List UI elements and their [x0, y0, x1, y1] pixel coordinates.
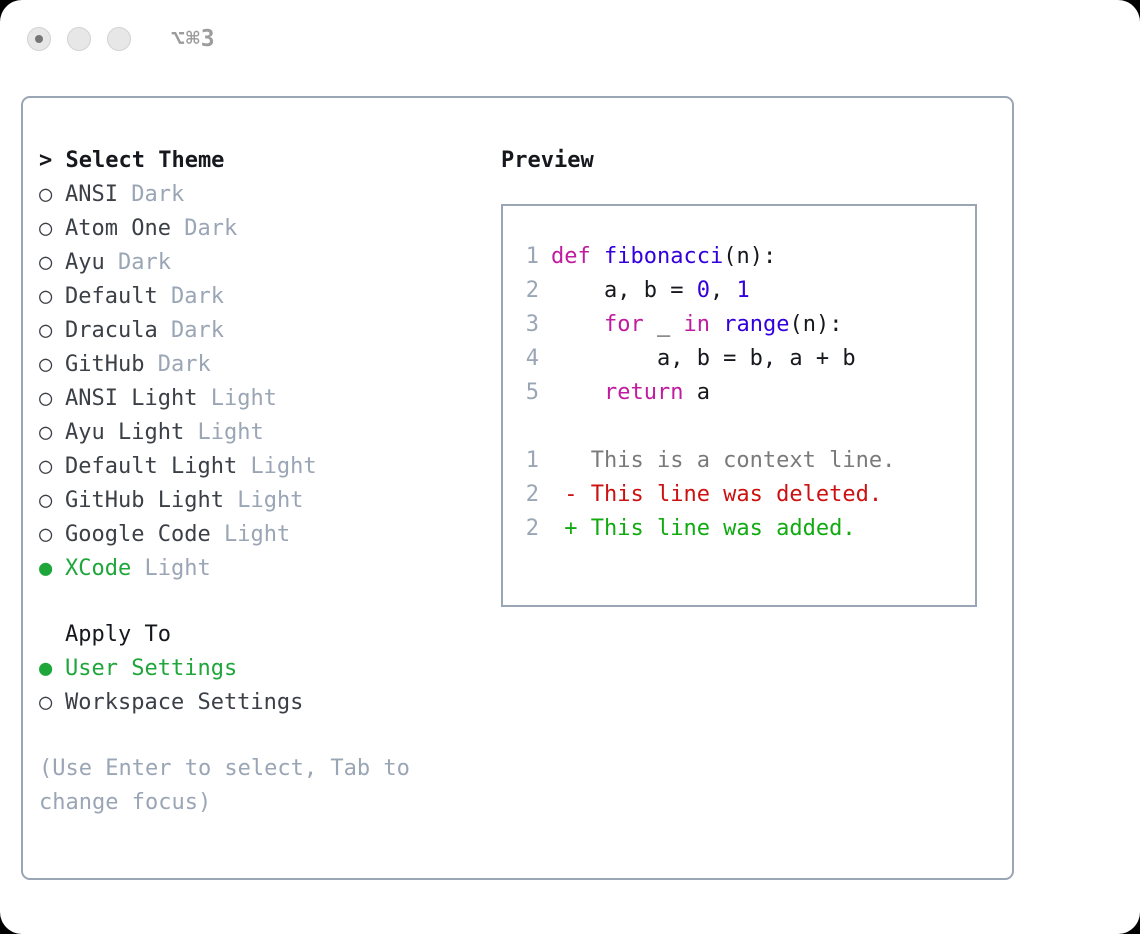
keyboard-hint-text: (Use Enter to select, Tab to change focu… [39, 752, 449, 820]
radio-unselected-icon: ○ [39, 416, 65, 450]
line-number: 5 [517, 376, 539, 410]
line-number: 4 [517, 342, 539, 376]
code-token: range [723, 312, 789, 337]
theme-option-name: Dracula [65, 318, 158, 343]
radio-unselected-icon: ○ [39, 450, 65, 484]
apply-to-option-name: Workspace Settings [65, 690, 303, 715]
code-token: (n): [723, 244, 776, 269]
radio-unselected-icon: ○ [39, 686, 65, 720]
theme-option-kind: Dark [171, 284, 224, 309]
code-token: def [551, 244, 604, 269]
theme-option-name: Ayu Light [65, 420, 184, 445]
theme-option-kind: Dark [158, 352, 211, 377]
theme-option-name: Default [65, 284, 158, 309]
line-number: 3 [517, 308, 539, 342]
theme-selection-column: > Select Theme ○ANSI Dark○Atom One Dark○… [39, 144, 469, 820]
theme-option-name: Google Code [65, 522, 211, 547]
radio-unselected-icon: ○ [39, 314, 65, 348]
preview-column: Preview 1def fibonacci(n):2 a, b = 0, 13… [501, 144, 991, 607]
main-panel: > Select Theme ○ANSI Dark○Atom One Dark○… [21, 96, 1014, 880]
window-dot-3[interactable] [107, 27, 131, 51]
theme-option[interactable]: ○Atom One Dark [39, 212, 469, 246]
theme-option-kind: Dark [131, 182, 184, 207]
theme-option-kind: Dark [184, 216, 237, 241]
diff-line: 1 This is a context line. [503, 444, 975, 478]
theme-option[interactable]: ○Default Dark [39, 280, 469, 314]
radio-selected-icon: ● [39, 652, 65, 686]
code-token: + This line was added. [551, 516, 856, 541]
code-token: (n): [789, 312, 842, 337]
code-token: - This line was deleted. [551, 482, 882, 507]
preview-spacer [503, 410, 975, 444]
theme-option[interactable]: ○Google Code Light [39, 518, 469, 552]
apply-to-block: Apply To ●User Settings○Workspace Settin… [39, 618, 469, 720]
theme-option-name: ANSI [65, 182, 118, 207]
diff-line: 2 + This line was added. [503, 512, 975, 546]
code-token: for [604, 312, 644, 337]
theme-option-kind: Dark [171, 318, 224, 343]
theme-list: ○ANSI Dark○Atom One Dark○Ayu Dark○Defaul… [39, 178, 469, 586]
theme-option[interactable]: ○ANSI Dark [39, 178, 469, 212]
diff-line: 2 - This line was deleted. [503, 478, 975, 512]
theme-option-kind: Light [250, 454, 316, 479]
theme-option-name: XCode [65, 556, 131, 581]
code-line: 4 a, b = b, a + b [503, 342, 975, 376]
radio-unselected-icon: ○ [39, 280, 65, 314]
apply-to-option[interactable]: ○Workspace Settings [39, 686, 469, 720]
code-token: in [683, 312, 710, 337]
code-token: 0 [697, 278, 710, 303]
radio-unselected-icon: ○ [39, 178, 65, 212]
code-token [551, 380, 604, 405]
code-line: 5 return a [503, 376, 975, 410]
theme-option-kind: Light [197, 420, 263, 445]
theme-option-kind: Light [224, 522, 290, 547]
theme-option[interactable]: ○Default Light Light [39, 450, 469, 484]
theme-option-name: Atom One [65, 216, 171, 241]
theme-option[interactable]: ○Ayu Dark [39, 246, 469, 280]
theme-option[interactable]: ●XCode Light [39, 552, 469, 586]
code-line: 1def fibonacci(n): [503, 240, 975, 274]
window-dot-active-indicator [35, 35, 43, 43]
preview-heading: Preview [501, 144, 991, 178]
preview-code-block: 1def fibonacci(n):2 a, b = 0, 13 for _ i… [503, 240, 975, 410]
theme-option[interactable]: ○Ayu Light Light [39, 416, 469, 450]
theme-option-kind: Light [237, 488, 303, 513]
code-token: , [710, 278, 737, 303]
line-number: 1 [517, 240, 539, 274]
apply-to-option-name: User Settings [65, 656, 237, 681]
code-token: return [604, 380, 683, 405]
code-token: a [683, 380, 710, 405]
code-token: fibonacci [604, 244, 723, 269]
line-number: 1 [517, 444, 539, 478]
preview-box: 1def fibonacci(n):2 a, b = 0, 13 for _ i… [501, 204, 977, 607]
radio-unselected-icon: ○ [39, 348, 65, 382]
code-line: 3 for _ in range(n): [503, 308, 975, 342]
theme-option-name: ANSI Light [65, 386, 197, 411]
code-token [710, 312, 723, 337]
theme-option-name: GitHub Light [65, 488, 224, 513]
theme-option[interactable]: ○ANSI Light Light [39, 382, 469, 416]
radio-unselected-icon: ○ [39, 246, 65, 280]
code-token: _ [644, 312, 684, 337]
line-number: 2 [517, 274, 539, 308]
code-token [551, 312, 604, 337]
theme-option[interactable]: ○GitHub Dark [39, 348, 469, 382]
theme-option-kind: Light [144, 556, 210, 581]
theme-option-name: Default Light [65, 454, 237, 479]
theme-option[interactable]: ○Dracula Dark [39, 314, 469, 348]
code-line: 2 a, b = 0, 1 [503, 274, 975, 308]
radio-unselected-icon: ○ [39, 212, 65, 246]
window-dot-2[interactable] [67, 27, 91, 51]
code-token: a, b = b, a + b [551, 346, 856, 371]
radio-unselected-icon: ○ [39, 382, 65, 416]
radio-unselected-icon: ○ [39, 484, 65, 518]
theme-option-kind: Dark [118, 250, 171, 275]
code-token: 1 [736, 278, 749, 303]
radio-selected-icon: ● [39, 552, 65, 586]
apply-to-heading: Apply To [39, 618, 469, 652]
theme-option-kind: Light [211, 386, 277, 411]
line-number: 2 [517, 512, 539, 546]
window-dot-active[interactable] [27, 27, 51, 51]
theme-option-name: GitHub [65, 352, 144, 377]
theme-option-name: Ayu [65, 250, 105, 275]
apply-to-list: ●User Settings○Workspace Settings [39, 652, 469, 720]
radio-unselected-icon: ○ [39, 518, 65, 552]
app-window: ⌥⌘3 > Select Theme ○ANSI Dark○Atom One D… [0, 0, 1140, 934]
title-bar: ⌥⌘3 [0, 0, 1140, 78]
line-number: 2 [517, 478, 539, 512]
code-token: This is a context line. [551, 448, 895, 473]
keyboard-shortcut-label: ⌥⌘3 [171, 28, 216, 51]
theme-option[interactable]: ○GitHub Light Light [39, 484, 469, 518]
code-token: a, b = [551, 278, 697, 303]
preview-diff-block: 1 This is a context line.2 - This line w… [503, 444, 975, 546]
select-theme-heading: > Select Theme [39, 144, 469, 178]
apply-to-option[interactable]: ●User Settings [39, 652, 469, 686]
